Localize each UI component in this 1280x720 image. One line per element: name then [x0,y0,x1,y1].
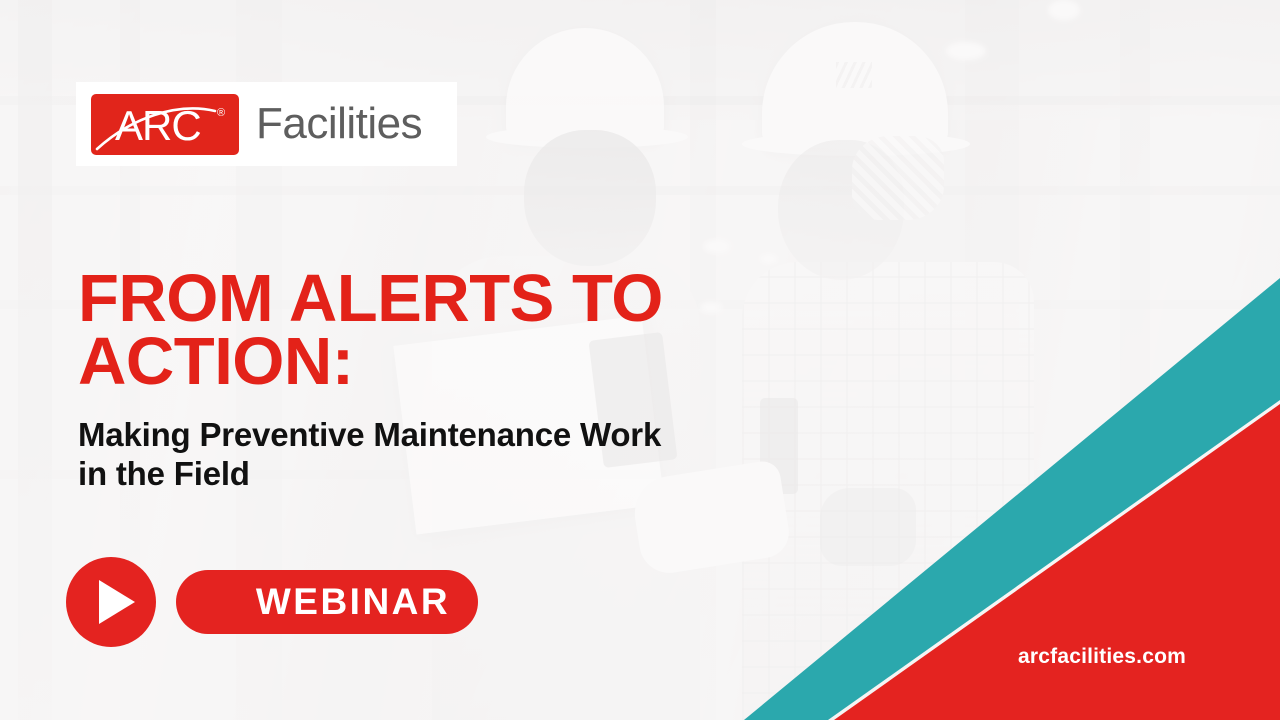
play-button[interactable] [66,557,156,647]
webinar-badge-pill[interactable]: WEBINAR [176,570,478,634]
svg-text:®: ® [217,107,225,119]
brand-logo-lockup: ARC ® Facilities [76,82,457,166]
website-url[interactable]: arcfacilities.com [1018,645,1186,669]
headline-block: FROM ALERTS TO ACTION: Making Preventive… [78,268,798,493]
webinar-badge-label: WEBINAR [256,581,450,623]
webinar-promo-slide: ARC ® Facilities FROM ALERTS TO ACTION: … [0,0,1280,720]
brand-logo-word: Facilities [256,99,422,149]
page-title: FROM ALERTS TO ACTION: [78,268,798,394]
arc-logo-mark: ARC ® [91,94,239,155]
page-subtitle: Making Preventive Maintenance Work in th… [78,416,688,493]
play-triangle-icon [99,580,135,624]
